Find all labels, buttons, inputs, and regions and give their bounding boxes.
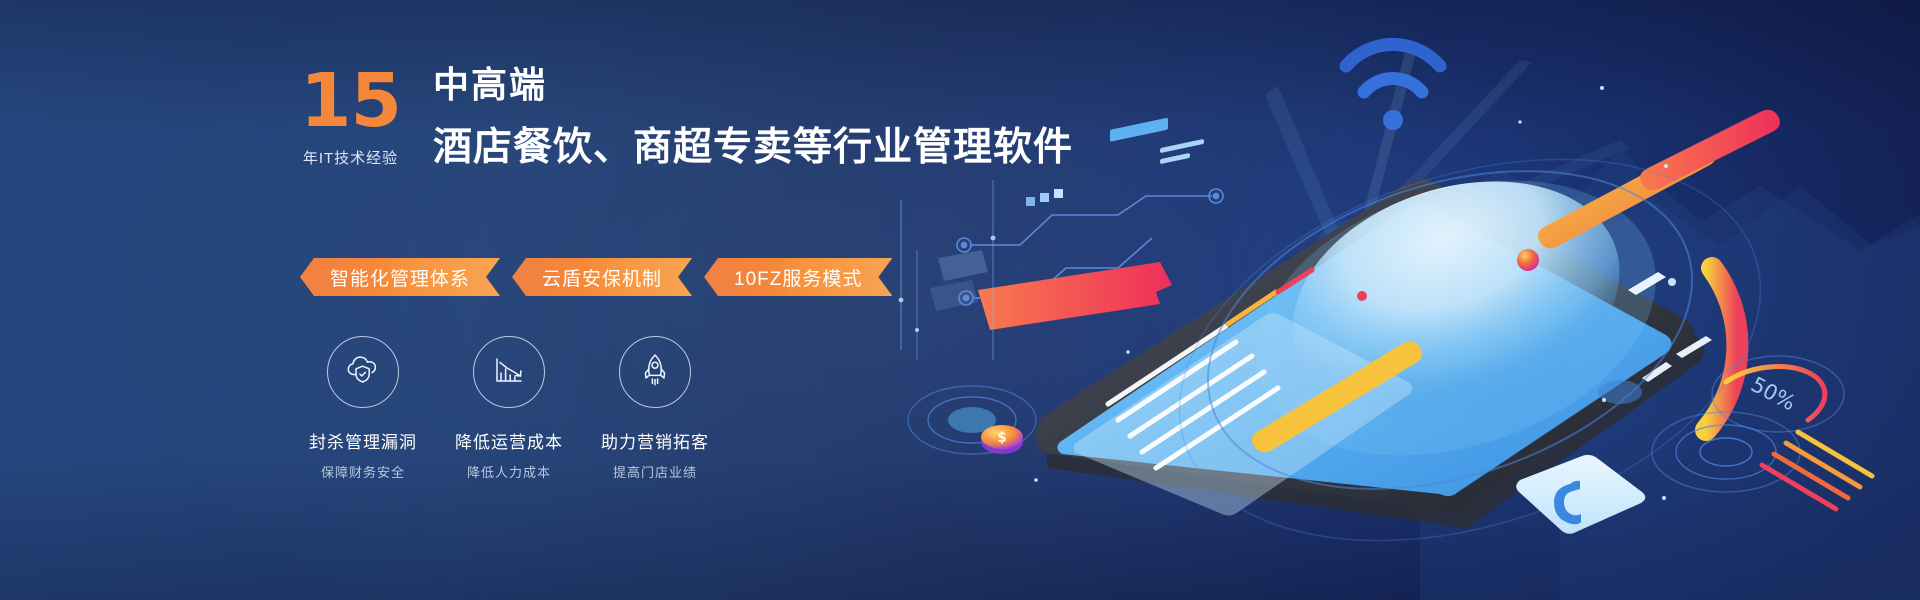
- feature-list: 封杀管理漏洞 保障财务安全 降低运营成本 降低人力成本: [290, 336, 728, 481]
- feature-icon-ring: [619, 336, 691, 408]
- years-number: 15: [300, 68, 401, 135]
- page-title: 中高端: [433, 64, 1073, 106]
- feature-item-marketing[interactable]: 助力营销拓客 提高门店业绩: [582, 336, 728, 481]
- feature-subtitle: 降低人力成本: [436, 462, 582, 481]
- svg-text:$: $: [997, 430, 1007, 446]
- feature-subtitle: 提高门店业绩: [582, 462, 728, 481]
- tag-label: 云盾安保机制: [542, 264, 662, 291]
- feature-subtitle: 保障财务安全: [290, 462, 436, 481]
- tag-cloud-shield-security[interactable]: 云盾安保机制: [512, 258, 692, 296]
- red-accent-bar: [978, 262, 1172, 330]
- tag-list: 智能化管理体系 云盾安保机制 10FZ服务模式: [300, 258, 892, 296]
- years-caption: 年IT技术经验: [300, 147, 401, 168]
- page-subtitle: 酒店餐饮、商超专卖等行业管理软件: [433, 116, 1073, 172]
- wifi-signal-icon: [1346, 44, 1440, 130]
- tag-label: 10FZ服务模式: [734, 264, 862, 291]
- declining-bar-chart-icon: [490, 351, 528, 394]
- hero-banner: $ 50%: [0, 0, 1920, 600]
- accent-ball: [1517, 249, 1539, 271]
- accent-dot-red: [1357, 291, 1367, 301]
- tag-10fz-service-model[interactable]: 10FZ服务模式: [704, 258, 892, 296]
- feature-title: 降低运营成本: [436, 428, 582, 453]
- dollar-coin-icon: $: [981, 425, 1023, 454]
- rocket-icon: [636, 351, 674, 394]
- years-block: 15 年IT技术经验: [300, 62, 401, 168]
- feature-item-security[interactable]: 封杀管理漏洞 保障财务安全: [290, 336, 436, 481]
- feature-icon-ring: [473, 336, 545, 408]
- headline-block: 15 年IT技术经验 中高端 酒店餐饮、商超专卖等行业管理软件: [300, 62, 1060, 172]
- feature-title: 助力营销拓客: [582, 428, 728, 453]
- feature-icon-ring: [327, 336, 399, 408]
- tag-intelligent-management[interactable]: 智能化管理体系: [300, 258, 500, 296]
- feature-title: 封杀管理漏洞: [290, 428, 436, 453]
- tag-label: 智能化管理体系: [330, 264, 470, 291]
- feature-item-cost[interactable]: 降低运营成本 降低人力成本: [436, 336, 582, 481]
- cloud-shield-icon: [343, 350, 383, 395]
